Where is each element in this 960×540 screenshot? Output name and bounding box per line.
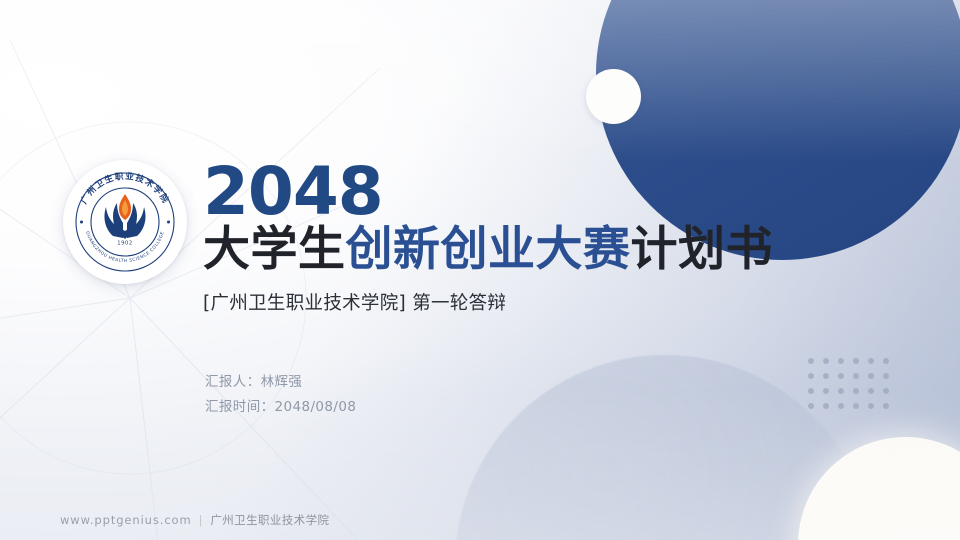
page-subtitle: [广州卫生职业技术学院] 第一轮答辩 (203, 289, 843, 315)
page-title-headline: 大学生创新创业大赛计划书 (203, 225, 843, 276)
grid-dot (883, 358, 889, 364)
grid-dot (868, 388, 874, 394)
grid-dot (823, 388, 829, 394)
grid-dot (883, 373, 889, 379)
grid-dot (838, 388, 844, 394)
grid-dot (853, 373, 859, 379)
grid-dot (808, 373, 814, 379)
grid-dot (823, 358, 829, 364)
headline-segment-2: 创新创业大赛 (346, 222, 631, 277)
grid-dot (838, 403, 844, 409)
grid-dot (838, 358, 844, 364)
grid-dot (808, 388, 814, 394)
presentation-slide: 广州卫生职业技术学院 GUANGZHOU HEALTH SCIENCE COLL… (0, 0, 960, 540)
page-title-year: 2048 (203, 160, 843, 223)
torch-flame-emblem: 广州卫生职业技术学院 GUANGZHOU HEALTH SCIENCE COLL… (71, 168, 179, 276)
headline-segment-1: 大学生 (203, 222, 346, 277)
grid-dot (868, 403, 874, 409)
grid-dot (883, 403, 889, 409)
footer-organization: 广州卫生职业技术学院 (210, 512, 329, 528)
grid-dot (868, 358, 874, 364)
logo-founded-year: 1902 (117, 241, 133, 247)
grid-dot (853, 358, 859, 364)
grid-dot (838, 373, 844, 379)
footer-website: www.pptgenius.com (60, 513, 192, 527)
presenter-meta: 汇报人：林辉强 汇报时间：2048/08/08 (205, 370, 356, 420)
grid-dot (853, 403, 859, 409)
presentation-date: 汇报时间：2048/08/08 (205, 395, 356, 420)
grid-dot (853, 388, 859, 394)
title-block: 2048 大学生创新创业大赛计划书 [广州卫生职业技术学院] 第一轮答辩 (203, 160, 843, 315)
grid-dot (808, 403, 814, 409)
footer-separator: | (199, 513, 204, 527)
presenter-name: 汇报人：林辉强 (205, 370, 356, 395)
decorative-dot-grid (804, 354, 894, 414)
grid-dot (868, 373, 874, 379)
grid-dot (823, 373, 829, 379)
college-logo: 广州卫生职业技术学院 GUANGZHOU HEALTH SCIENCE COLL… (63, 160, 187, 284)
grid-dot (808, 358, 814, 364)
footer: www.pptgenius.com | 广州卫生职业技术学院 (60, 512, 329, 528)
grid-dot (883, 388, 889, 394)
grid-dot (823, 403, 829, 409)
headline-segment-3: 计划书 (631, 222, 774, 277)
